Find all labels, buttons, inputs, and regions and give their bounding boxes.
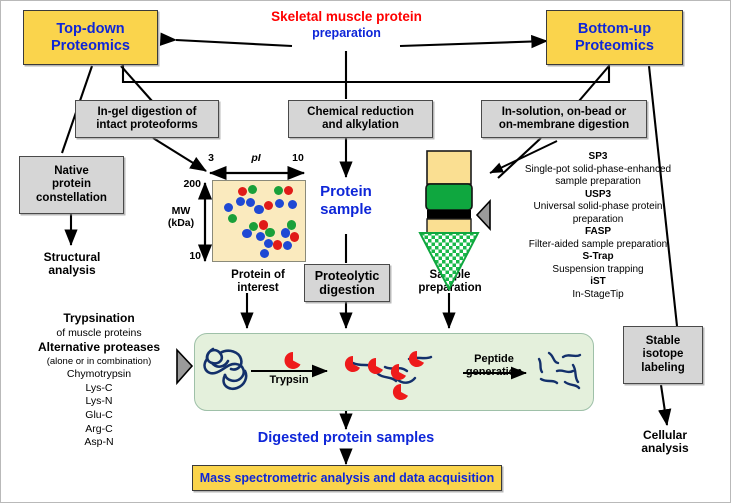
proteases-heading1: Trypsination — [19, 311, 179, 327]
structural-line1: Structural — [21, 251, 123, 264]
gel-pi-min-label: 3 — [201, 153, 221, 165]
top-down-line2: Proteomics — [51, 38, 130, 55]
gel-mw-max-label: 200 — [171, 179, 201, 191]
protein-sample-label: Protein sample — [298, 183, 394, 219]
methods-list: SP3 Single-pot solid-phase-enhanced samp… — [493, 151, 703, 301]
protease-item-5: Asp-N — [19, 436, 179, 450]
top-down-line1: Top-down — [56, 21, 124, 38]
proteolytic-line1: Proteolytic — [315, 269, 380, 283]
chemical-line1: Chemical reduction — [307, 106, 414, 119]
gel-spot — [236, 197, 245, 206]
proteolytic-line2: digestion — [319, 283, 375, 297]
digestion-panel — [194, 333, 594, 411]
top-down-proteomics-box[interactable]: Top-down Proteomics — [23, 10, 158, 65]
protein-of-interest-line1: Protein of — [206, 269, 310, 282]
gel-mw-axis-label: MW (kDa) — [161, 206, 201, 230]
page-title-line2: preparation — [244, 26, 449, 40]
protein-of-interest-line2: interest — [206, 282, 310, 295]
protease-item-2: Lys-N — [19, 395, 179, 409]
protease-item-3: Glu-C — [19, 409, 179, 423]
bottom-up-proteomics-box[interactable]: Bottom-up Proteomics — [546, 10, 683, 65]
method-strap-desc1: Suspension trapping — [493, 264, 703, 277]
figure-canvas: Skeletal muscle protein preparation Top-… — [0, 0, 731, 503]
method-usp3-desc1: Universal solid-phase protein — [493, 201, 703, 214]
bottom-up-line2: Proteomics — [575, 38, 654, 55]
gel-spot — [228, 214, 237, 223]
gel-spot — [273, 240, 282, 249]
protein-of-interest-label: Protein of interest — [206, 269, 310, 295]
method-sp3-desc2: sample preparation — [493, 176, 703, 189]
stable-isotope-line3: labeling — [641, 362, 684, 375]
gel-spot — [248, 185, 257, 194]
gel-spot — [281, 228, 290, 237]
method-strap-abbr: S-Trap — [493, 251, 703, 264]
gel-spot — [264, 239, 273, 248]
in-solution-line2: on-membrane digestion — [499, 119, 629, 132]
protein-sample-line2: sample — [298, 201, 394, 219]
page-title: Skeletal muscle protein preparation — [244, 9, 449, 40]
gel-pi-label: pI — [241, 153, 271, 165]
gel-spot — [274, 186, 283, 195]
mass-spec-analysis-box[interactable]: Mass spectrometric analysis and data acq… — [192, 465, 502, 491]
native-line2: protein — [52, 178, 91, 191]
gel-spot — [264, 201, 273, 210]
trypsin-arrow-label: Trypsin — [249, 374, 329, 386]
native-line1: Native — [54, 165, 89, 178]
in-gel-line1: In-gel digestion of — [97, 106, 196, 119]
method-usp3-desc2: preparation — [493, 214, 703, 227]
chemical-line2: and alkylation — [322, 119, 399, 132]
page-title-line1: Skeletal muscle protein — [244, 9, 449, 24]
protein-sample-line1: Protein — [298, 183, 394, 201]
gel-spot — [242, 229, 251, 238]
method-sp3-abbr: SP3 — [493, 151, 703, 164]
stable-isotope-labeling-box[interactable]: Stable isotope labeling — [623, 326, 703, 384]
gel-spot — [256, 232, 265, 241]
protease-item-4: Arg-C — [19, 423, 179, 437]
method-fasp-abbr: FASP — [493, 226, 703, 239]
gel-spot — [260, 249, 269, 258]
proteases-list: Trypsination of muscle proteins Alternat… — [19, 311, 179, 450]
peptide-generation-arrow-label: Peptide generation — [459, 353, 529, 378]
gel-pi-max-label: 10 — [287, 153, 309, 165]
digested-protein-samples-label: Digested protein samples — [226, 430, 466, 446]
proteases-sub1: of muscle proteins — [19, 327, 179, 341]
method-usp3-abbr: USP3 — [493, 189, 703, 202]
proteases-sub2: (alone or in combination) — [19, 356, 179, 368]
chemical-reduction-box[interactable]: Chemical reduction and alkylation — [288, 100, 433, 138]
structural-line2: analysis — [21, 264, 123, 277]
gel-spot — [284, 186, 293, 195]
method-sp3-desc1: Single-pot solid-phase-enhanced — [493, 164, 703, 177]
proteolytic-digestion-box[interactable]: Proteolytic digestion — [304, 264, 390, 302]
cellular-line2: analysis — [623, 442, 707, 455]
gel-spot — [238, 187, 247, 196]
cellular-line1: Cellular — [623, 429, 707, 442]
gel-spot — [265, 228, 274, 237]
sample-prep-line1: Sample — [406, 269, 494, 282]
two-d-gel-image[interactable] — [212, 180, 306, 262]
gel-spot — [288, 200, 297, 209]
in-gel-line2: intact proteoforms — [96, 119, 198, 132]
method-ist-desc1: In-StageTip — [493, 289, 703, 302]
sample-prep-line2: preparation — [406, 282, 494, 295]
protease-item-0: Chymotrypsin — [19, 368, 179, 382]
mass-spec-label: Mass spectrometric analysis and data acq… — [200, 471, 495, 485]
native-protein-constellation-box[interactable]: Native protein constellation — [19, 156, 124, 214]
in-solution-digestion-box[interactable]: In-solution, on-bead or on-membrane dige… — [481, 100, 647, 138]
proteases-heading2: Alternative proteases — [19, 340, 179, 356]
cellular-analysis-label: Cellular analysis — [623, 429, 707, 456]
structural-analysis-label: Structural analysis — [21, 251, 123, 278]
gel-spot — [283, 241, 292, 250]
gel-spot — [224, 203, 233, 212]
protease-item-1: Lys-C — [19, 382, 179, 396]
gel-mw-min-label: 10 — [171, 251, 201, 263]
method-ist-abbr: iST — [493, 276, 703, 289]
method-fasp-desc1: Filter-aided sample preparation — [493, 239, 703, 252]
native-line3: constellation — [36, 192, 107, 205]
sample-preparation-label: Sample preparation — [406, 269, 494, 295]
bottom-up-line1: Bottom-up — [578, 21, 651, 38]
gel-spot — [290, 232, 299, 241]
stable-isotope-line1: Stable — [646, 335, 681, 348]
gel-spot — [275, 199, 284, 208]
stable-isotope-line2: isotope — [643, 348, 684, 361]
gel-spot — [254, 205, 263, 214]
in-gel-digestion-box[interactable]: In-gel digestion of intact proteoforms — [75, 100, 219, 138]
in-solution-line1: In-solution, on-bead or — [502, 106, 627, 119]
